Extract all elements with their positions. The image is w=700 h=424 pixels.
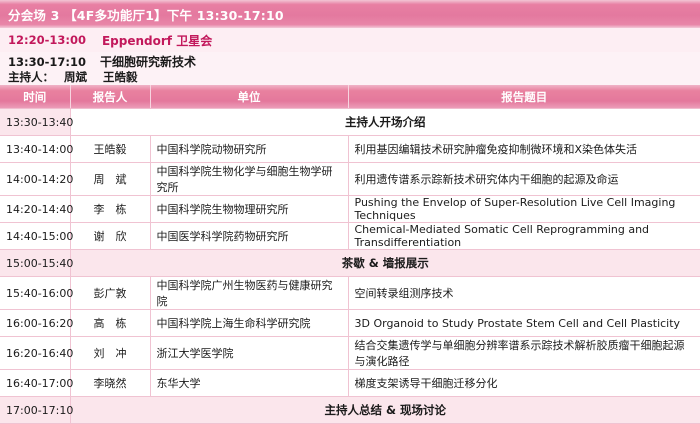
agenda-table-body: 13:30-13:40主持人开场介绍13:40-14:00王皓毅中国科学院动物研…: [0, 109, 700, 424]
satellite-meeting-row: 12:20-13:00 Eppendorf 卫星会: [0, 28, 700, 52]
cell-topic: 利用遗传谱系示踪新技术研究体内干细胞的起源及命运: [348, 163, 700, 196]
cell-organization: 中国科学院动物研究所: [150, 136, 348, 163]
table-row: 15:00-15:40茶歇 & 墙报展示: [0, 250, 700, 277]
cell-topic: Pushing the Envelop of Super-Resolution …: [348, 196, 700, 223]
cell-speaker: 李晓然: [70, 370, 150, 397]
cell-organization: 中国医学科学院药物研究所: [150, 223, 348, 250]
table-row: 14:20-14:40李 栋中国科学院生物物理研究所Pushing the En…: [0, 196, 700, 223]
cell-session-note: 主持人总结 & 现场讨论: [70, 397, 700, 424]
satellite-name: Eppendorf 卫星会: [102, 32, 212, 49]
session-topic: 干细胞研究新技术: [100, 55, 196, 70]
session-heading-block: 13:30-17:10 干细胞研究新技术 主持人： 周斌 王皓毅: [0, 52, 700, 85]
host-name-2: 王皓毅: [103, 70, 138, 85]
cell-topic: 3D Organoid to Study Prostate Stem Cell …: [348, 310, 700, 337]
cell-time: 14:20-14:40: [0, 196, 70, 223]
cell-organization: 东华大学: [150, 370, 348, 397]
cell-time: 13:30-13:40: [0, 109, 70, 136]
cell-time: 17:00-17:10: [0, 397, 70, 424]
cell-time: 15:40-16:00: [0, 277, 70, 310]
session-time: 13:30-17:10: [8, 55, 86, 70]
cell-time: 13:40-14:00: [0, 136, 70, 163]
cell-session-note: 茶歇 & 墙报展示: [70, 250, 700, 277]
cell-speaker: 王皓毅: [70, 136, 150, 163]
table-row: 16:40-17:00李晓然东华大学梯度支架诱导干细胞迁移分化: [0, 370, 700, 397]
table-row: 16:00-16:20高 栋中国科学院上海生命科学研究院3D Organoid …: [0, 310, 700, 337]
page-title: 分会场 3 【4F多功能厅1】下午 13:30-17:10: [8, 5, 284, 24]
cell-time: 14:40-15:00: [0, 223, 70, 250]
cell-speaker: 李 栋: [70, 196, 150, 223]
cell-organization: 中国科学院生物化学与细胞生物学研究所: [150, 163, 348, 196]
cell-session-note: 主持人开场介绍: [70, 109, 700, 136]
column-header-time: 时间: [0, 85, 70, 109]
cell-time: 16:00-16:20: [0, 310, 70, 337]
host-name-1: 周斌: [64, 70, 87, 85]
table-row: 15:40-16:00彭广敦中国科学院广州生物医药与健康研究院空间转录组测序技术: [0, 277, 700, 310]
session-title-bar: 分会场 3 【4F多功能厅1】下午 13:30-17:10: [0, 0, 700, 28]
table-row: 14:00-14:20周 斌中国科学院生物化学与细胞生物学研究所利用遗传谱系示踪…: [0, 163, 700, 196]
cell-speaker: 谢 欣: [70, 223, 150, 250]
session-agenda-page: 分会场 3 【4F多功能厅1】下午 13:30-17:10 12:20-13:0…: [0, 0, 700, 416]
session-topic-line: 13:30-17:10 干细胞研究新技术: [8, 55, 700, 70]
cell-organization: 中国科学院生物物理研究所: [150, 196, 348, 223]
cell-organization: 中国科学院上海生命科学研究院: [150, 310, 348, 337]
column-header-organization: 单位: [150, 85, 348, 109]
cell-topic: 利用基因编辑技术研究肿瘤免疫抑制微环境和X染色体失活: [348, 136, 700, 163]
cell-speaker: 周 斌: [70, 163, 150, 196]
table-header-row: 时间 报告人 单位 报告题目: [0, 85, 700, 109]
column-header-speaker: 报告人: [70, 85, 150, 109]
agenda-table: 时间 报告人 单位 报告题目 13:30-13:40主持人开场介绍13:40-1…: [0, 85, 700, 424]
table-row: 13:30-13:40主持人开场介绍: [0, 109, 700, 136]
cell-topic: Chemical-Mediated Somatic Cell Reprogram…: [348, 223, 700, 250]
cell-time: 16:20-16:40: [0, 337, 70, 370]
cell-speaker: 高 栋: [70, 310, 150, 337]
table-row: 17:00-17:10主持人总结 & 现场讨论: [0, 397, 700, 424]
session-host-line: 主持人： 周斌 王皓毅: [8, 70, 700, 85]
cell-topic: 结合交集遗传学与单细胞分辨率谱系示踪技术解析胶质瘤干细胞起源与演化路径: [348, 337, 700, 370]
table-row: 16:20-16:40刘 冲浙江大学医学院结合交集遗传学与单细胞分辨率谱系示踪技…: [0, 337, 700, 370]
cell-topic: 梯度支架诱导干细胞迁移分化: [348, 370, 700, 397]
cell-speaker: 刘 冲: [70, 337, 150, 370]
cell-time: 15:00-15:40: [0, 250, 70, 277]
host-label: 主持人：: [8, 70, 54, 85]
cell-time: 14:00-14:20: [0, 163, 70, 196]
cell-speaker: 彭广敦: [70, 277, 150, 310]
cell-topic: 空间转录组测序技术: [348, 277, 700, 310]
cell-organization: 浙江大学医学院: [150, 337, 348, 370]
cell-time: 16:40-17:00: [0, 370, 70, 397]
cell-organization: 中国科学院广州生物医药与健康研究院: [150, 277, 348, 310]
table-row: 13:40-14:00王皓毅中国科学院动物研究所利用基因编辑技术研究肿瘤免疫抑制…: [0, 136, 700, 163]
column-header-topic: 报告题目: [348, 85, 700, 109]
satellite-time: 12:20-13:00: [8, 33, 86, 47]
table-row: 14:40-15:00谢 欣中国医学科学院药物研究所Chemical-Media…: [0, 223, 700, 250]
